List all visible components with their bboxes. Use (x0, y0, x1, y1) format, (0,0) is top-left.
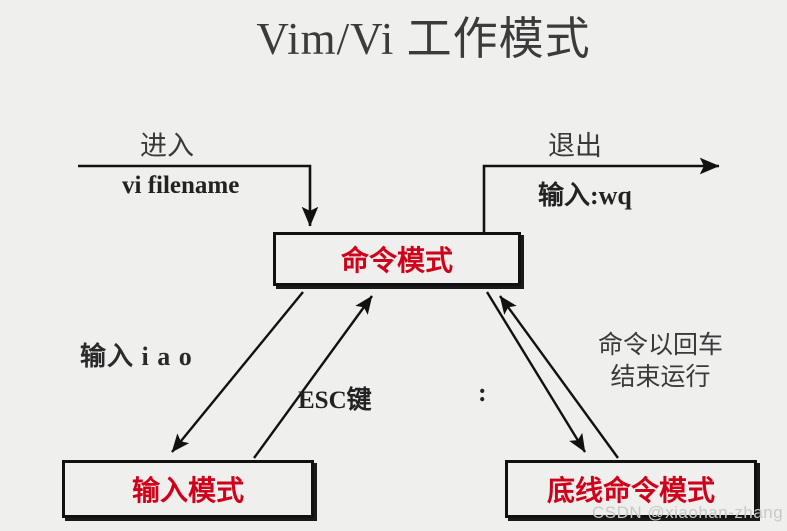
edge-label-run-command: 命令以回车 结束运行 (598, 330, 723, 394)
edge-label-enter: 进入 (140, 124, 194, 163)
csdn-watermark: CSDN @xiaohan-zhang (592, 503, 783, 523)
edge-command-lastline (487, 292, 585, 452)
edge-insert-command (254, 296, 372, 458)
mode-box-command-label: 命令模式 (341, 239, 453, 279)
edge-label-write-quit: 输入:wq (538, 175, 632, 212)
edge-label-insert-keys: 输入 i a o (80, 336, 193, 373)
mode-box-insert[interactable]: 输入模式 (62, 460, 314, 518)
edge-label-run-command-line1: 命令以回车 (598, 332, 723, 359)
edge-label-esc-key: ESC键 (298, 380, 372, 416)
diagram-canvas: Vim/Vi 工作模式 命令模式 输入模式 底线命令模式 进入 vi filen… (0, 0, 787, 531)
edge-label-exit: 退出 (548, 124, 602, 163)
mode-box-command[interactable]: 命令模式 (273, 232, 521, 286)
edge-label-run-command-line2: 结束运行 (598, 362, 723, 394)
page-title: Vim/Vi 工作模式 (0, 2, 787, 67)
mode-box-insert-label: 输入模式 (132, 469, 244, 509)
edge-label-vi-filename: vi filename (122, 172, 239, 200)
edge-label-colon: : (478, 378, 487, 408)
